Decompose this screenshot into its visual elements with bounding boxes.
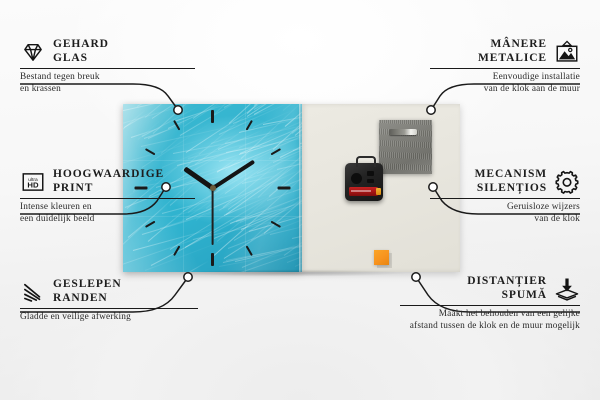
gear-icon [554,169,580,195]
callout-title-line: SPUMĂ [467,289,547,303]
hand-center-cap [210,185,216,191]
callout-desc-line: Bestand tegen breuk [20,72,195,84]
callout-desc-line: Maakt het behouden van een gelijke [400,309,580,321]
clock-tick [144,148,155,155]
svg-text:HD: HD [27,180,39,189]
hanger-slot [389,129,417,135]
clock-tick [270,148,281,155]
minute-hand [211,160,254,190]
clock-tick [211,110,214,123]
metal-hanger-plate [379,120,432,174]
callout-hoogwaardige-print: ultra HD HOOGWAARDIGE PRINT Intense kleu… [20,168,195,226]
callout-title-line: MECANISM [475,168,547,182]
callout-rule [430,198,580,199]
movement-shaft [351,173,362,184]
callout-desc-line: Geruisloze wijzers [430,202,580,214]
callout-rule [20,308,198,309]
callout-title-line: GLAS [53,52,109,66]
diamond-icon [20,39,46,65]
clock-tick [211,253,214,266]
clock-tick [173,120,180,131]
callout-geslepen-randen: GESLEPEN RANDEN Gladde en veilige afwerk… [20,278,198,324]
callout-title-line: DISTANȚIER [467,275,547,289]
callout-desc-line: Intense kleuren en [20,202,195,214]
arrow-onto-layers-icon [554,276,580,302]
movement-button [367,171,374,176]
clock-tick [278,187,291,190]
callout-rule [430,68,580,69]
callout-title-line: GESLEPEN [53,278,122,292]
callout-title-line: MÂNERE [478,38,547,52]
callout-mecanism-silentios: MECANISM SILENȚIOS Geruisloze wijzers va… [430,168,580,226]
movement-hanger [356,156,376,167]
ultra-hd-icon: ultra HD [20,169,46,195]
callout-title-line: HOOGWAARDIGE [53,168,164,182]
callout-desc-line: Eenvoudige installatie [430,72,580,84]
second-hand [212,188,214,245]
callout-manere-metalice: MÂNERE METALICE Eenvoudige installatie v… [430,38,580,96]
clock-movement [345,163,383,201]
callout-title-line: SILENȚIOS [475,182,547,196]
callout-desc-line: en krassen [20,84,195,96]
infographic-canvas: GEHARD GLAS Bestand tegen breuk en krass… [0,0,600,400]
callout-desc-line: een duidelijk beeld [20,214,195,226]
callout-title-line: PRINT [53,182,164,196]
picture-frame-icon [554,39,580,65]
callout-rule [20,198,195,199]
movement-button [367,179,374,183]
callout-rule [400,305,580,306]
callout-header: MÂNERE METALICE [430,38,580,65]
clock-tick [173,246,180,257]
callout-title-line: METALICE [478,52,547,66]
callout-title-line: RANDEN [53,292,122,306]
callout-desc-line: van de klok [430,214,580,226]
callout-header: GEHARD GLAS [20,38,195,65]
callout-header: GESLEPEN RANDEN [20,278,198,305]
callout-desc-line: Gladde en veilige afwerking [20,312,198,324]
foam-spacer [374,250,389,265]
callout-header: MECANISM SILENȚIOS [430,168,580,195]
callout-desc-line: afstand tussen de klok en de muur mogeli… [400,321,580,333]
clock-tick [245,246,252,257]
bevel-lines-icon [20,279,46,305]
callout-gehard-glas: GEHARD GLAS Bestand tegen breuk en krass… [20,38,195,96]
callout-header: DISTANȚIER SPUMĂ [400,275,580,302]
clock-tick [270,221,281,228]
callout-desc-line: van de klok aan de muur [430,84,580,96]
callout-title-line: GEHARD [53,38,109,52]
battery [349,187,378,196]
battery-label [351,190,371,192]
callout-distantier-spuma: DISTANȚIER SPUMĂ Maakt het behouden van … [400,275,580,333]
callout-header: ultra HD HOOGWAARDIGE PRINT [20,168,195,195]
clock-tick [245,120,252,131]
callout-rule [20,68,195,69]
